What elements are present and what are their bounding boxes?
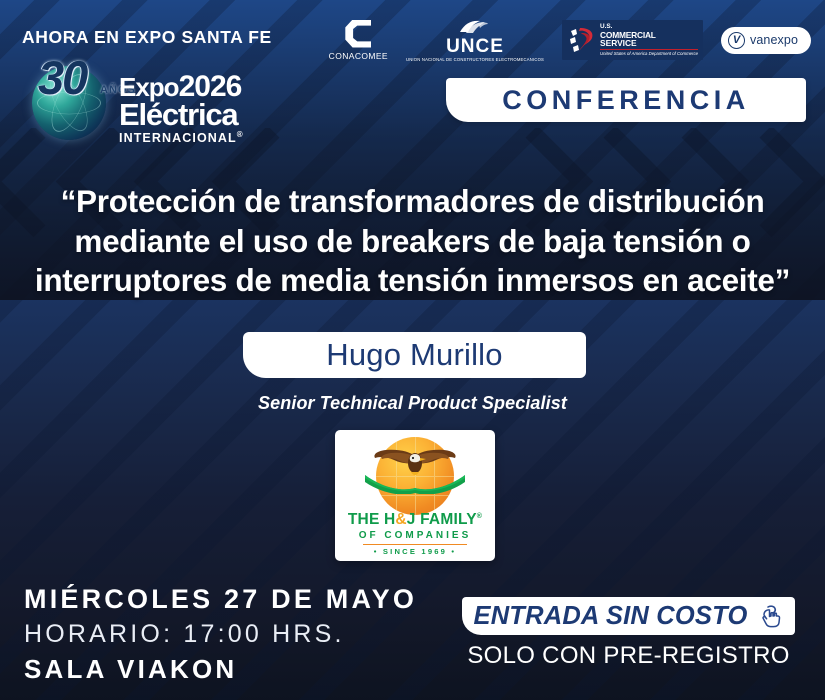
us-flag-swoosh-icon	[567, 25, 597, 55]
anniversary-number: 30	[38, 50, 86, 105]
conferencia-banner: CONFERENCIA	[446, 78, 806, 122]
partner-logos: CONACOMEE UNCE UNION NACIONAL DE CONSTRU…	[329, 14, 811, 66]
expo-line2: Eléctrica	[119, 101, 244, 129]
event-details: MIÉRCOLES 27 DE MAYO HORARIO: 17:00 HRS.…	[24, 586, 417, 682]
partner-logo-unce: UNCE UNION NACIONAL DE CONSTRUCTORES ELE…	[406, 18, 544, 62]
hj-name-line-2: OF COMPANIES	[359, 530, 471, 541]
company-logo-card: THE H&J FAMILY® OF COMPANIES • SINCE 196…	[335, 430, 495, 561]
vanexpo-label: vanexpo	[750, 33, 798, 47]
hj-since-line: • SINCE 1969 •	[374, 547, 457, 556]
partner-logo-conacomee: CONACOMEE	[329, 20, 388, 61]
ucs-line3: SERVICE	[600, 39, 698, 50]
expo-electrica-logo: 30 AÑOS Expo2026 Eléctrica INTERNACIONAL…	[16, 48, 231, 140]
cta-subtext: SOLO CON PRE-REGISTRO	[462, 642, 795, 670]
hj-name-line-1: THE H&J FAMILY®	[348, 511, 482, 529]
speaker-role: Senior Technical Product Specialist	[0, 393, 825, 414]
us-commercial-service-text: U.S. COMMERCIAL SERVICE United States of…	[600, 24, 698, 56]
expo-line1: Expo2026	[119, 73, 244, 100]
conference-promo-poster: AHORA EN EXPO SANTA FE 30 AÑOS Expo2026 …	[0, 0, 825, 700]
vanexpo-v-icon: V	[728, 32, 745, 49]
ribbon-banner	[363, 468, 467, 494]
conacomee-label: CONACOMEE	[329, 51, 388, 61]
hj-globe-icon	[376, 437, 454, 515]
hj-name-a: THE H	[348, 511, 396, 528]
hj-name-b: J FAMILY	[407, 511, 477, 528]
event-date: MIÉRCOLES 27 DE MAYO	[24, 586, 417, 613]
title-line-1: “Protección de transformadores de distri…	[10, 182, 815, 222]
event-time: HORARIO: 17:00 HRS.	[24, 622, 417, 647]
registered-mark-icon: ®	[237, 130, 244, 139]
unce-wing-icon	[457, 18, 493, 36]
conacomee-hex-c-icon	[345, 20, 371, 48]
ucs-line4: United States of America Department of C…	[600, 52, 698, 56]
unce-label: UNCE	[446, 37, 504, 56]
hj-bolt-icon: &	[395, 511, 406, 528]
speaker-name-pill: Hugo Murillo	[243, 332, 586, 378]
hj-divider	[363, 544, 467, 545]
hj-registered-mark: ®	[477, 513, 482, 520]
entrada-sin-costo-button[interactable]: ENTRADA SIN COSTO	[462, 597, 795, 635]
expo-line3: INTERNACIONAL®	[119, 131, 244, 144]
unce-sublabel: UNION NACIONAL DE CONSTRUCTORES ELECTROM…	[406, 57, 544, 62]
partner-logo-us-commercial-service: U.S. COMMERCIAL SERVICE United States of…	[562, 20, 703, 60]
expo-internacional: INTERNACIONAL	[119, 131, 237, 145]
expo-wordmark: Expo2026 Eléctrica INTERNACIONAL®	[119, 73, 244, 144]
title-line-3: interruptores de media tensión inmersos …	[10, 261, 815, 301]
partner-logo-vanexpo: V vanexpo	[721, 27, 811, 54]
event-room: SALA VIAKON	[24, 656, 417, 682]
cta-label: ENTRADA SIN COSTO	[473, 602, 747, 631]
pointing-hand-icon	[757, 603, 784, 629]
conference-title: “Protección de transformadores de distri…	[10, 182, 815, 301]
title-line-2: mediante el uso de breakers de baja tens…	[10, 222, 815, 262]
kicker-text: AHORA EN EXPO SANTA FE	[22, 27, 272, 48]
